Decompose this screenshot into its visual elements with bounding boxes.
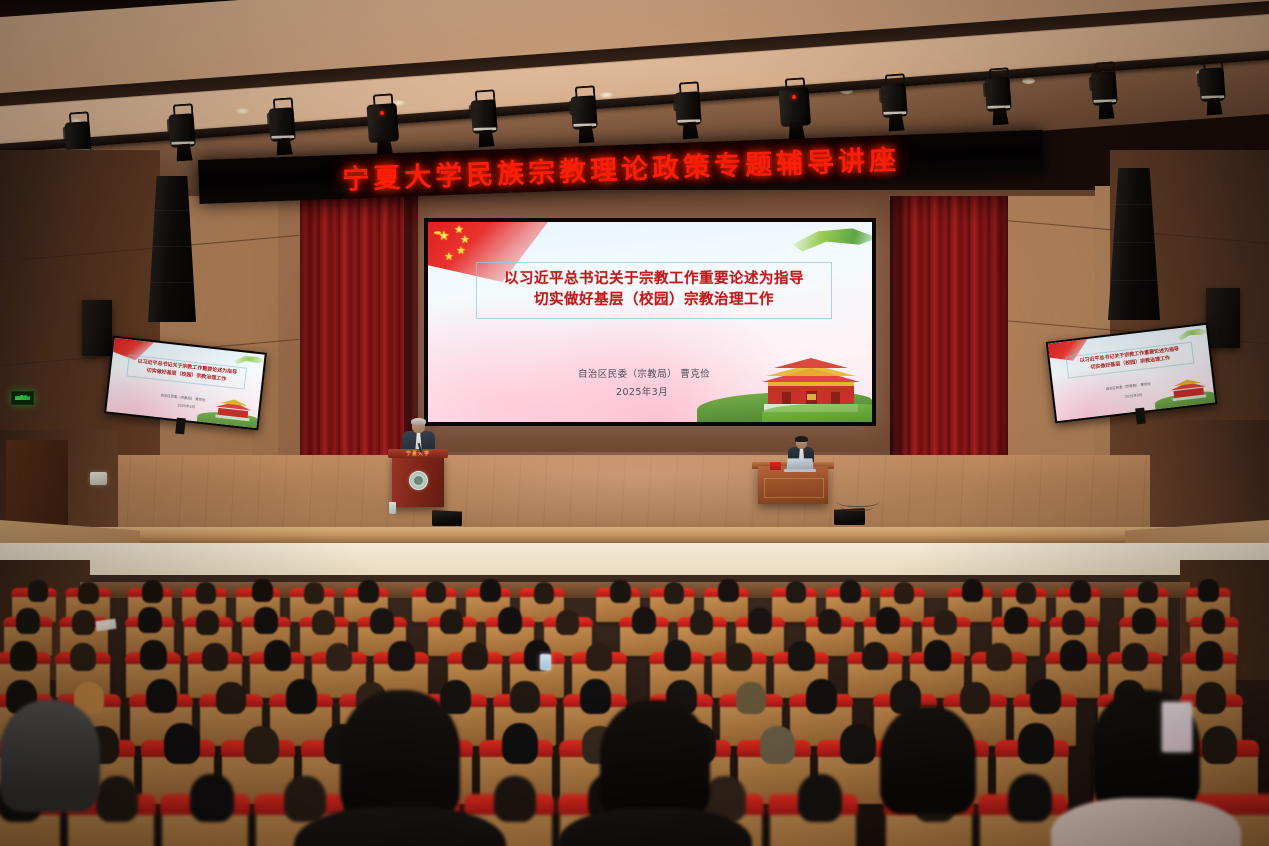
stage-spotlight-icon bbox=[876, 73, 915, 141]
attendee bbox=[786, 581, 806, 603]
attendee bbox=[1004, 607, 1028, 634]
attendee bbox=[164, 723, 200, 764]
main-projection-screen: ★ ★ ★ ★ ★ 以习近平总书记关于宗教工作重要论述为指导 切实做好基层（校园… bbox=[424, 218, 876, 426]
name-card bbox=[770, 462, 781, 470]
attendee bbox=[196, 610, 219, 635]
attendee bbox=[586, 643, 612, 671]
monitor-presenter: 自治区民委（宗教局） 曹克俭 bbox=[160, 393, 205, 403]
attendee bbox=[254, 607, 278, 634]
attendee bbox=[388, 641, 415, 671]
attendee bbox=[286, 679, 317, 714]
attendee bbox=[440, 609, 463, 634]
attendee bbox=[748, 608, 772, 634]
attendee bbox=[924, 640, 951, 671]
attendee bbox=[252, 579, 273, 602]
attendee bbox=[284, 776, 326, 822]
monitor-mount-right bbox=[1135, 408, 1146, 425]
attendee bbox=[1138, 581, 1158, 603]
attendee bbox=[1060, 640, 1087, 671]
grass-decoration-front bbox=[762, 404, 872, 422]
attendee bbox=[760, 726, 795, 764]
attendee bbox=[960, 682, 990, 714]
monitor-date: 2025年3月 bbox=[177, 403, 195, 410]
attendee bbox=[1202, 726, 1237, 764]
laptop-base bbox=[784, 469, 816, 472]
wall-speaker-left bbox=[82, 300, 112, 356]
smartphone[interactable] bbox=[540, 654, 551, 670]
ribbon-decoration-icon bbox=[792, 226, 872, 256]
stage-spotlight-icon bbox=[566, 85, 605, 153]
slide-title-box: 以习近平总书记关于宗教工作重要论述为指导 切实做好基层（校园）宗教治理工作 bbox=[476, 262, 832, 319]
water-bottle bbox=[389, 502, 396, 514]
attendee bbox=[1062, 610, 1085, 635]
university-emblem-icon bbox=[409, 471, 428, 490]
attendee bbox=[934, 610, 957, 635]
attendee bbox=[196, 582, 216, 604]
attendee bbox=[1016, 582, 1036, 604]
attendee bbox=[78, 582, 99, 604]
attendee bbox=[498, 607, 522, 634]
attendee bbox=[876, 607, 900, 634]
attendee bbox=[304, 582, 324, 604]
flag-star-icon: ★ bbox=[438, 229, 450, 242]
attendee bbox=[146, 679, 177, 713]
attendee bbox=[806, 679, 837, 714]
flag-star-icon: ★ bbox=[456, 246, 466, 257]
smartphone[interactable] bbox=[1162, 702, 1192, 752]
floor-monitor-left bbox=[432, 510, 462, 526]
attendee bbox=[494, 776, 536, 822]
attendee bbox=[1132, 608, 1156, 634]
attendee bbox=[632, 607, 656, 634]
attendee bbox=[326, 643, 352, 671]
stage-spotlight-icon bbox=[264, 97, 303, 165]
slide-title-line-1: 以习近平总书记关于宗教工作重要论述为指导 bbox=[481, 269, 827, 290]
attendee bbox=[1122, 643, 1148, 671]
stage-spotlight-icon bbox=[364, 93, 403, 161]
attendee bbox=[510, 681, 540, 713]
stage-spotlight-icon bbox=[1086, 61, 1125, 129]
lecture-hall-photo: ★ ★ ★ ★ ★ 以习近平总书记关于宗教工作重要论述为指导 切实做好基层（校园… bbox=[0, 0, 1269, 846]
attendee bbox=[726, 643, 752, 671]
attendee bbox=[0, 700, 100, 812]
monitor-date: 2025年3月 bbox=[1125, 393, 1143, 400]
table-panel-inlay bbox=[764, 478, 824, 498]
attendee bbox=[462, 642, 488, 670]
attendee bbox=[962, 579, 983, 602]
attendee bbox=[216, 682, 246, 714]
attendee bbox=[480, 579, 501, 602]
attendee bbox=[370, 608, 394, 634]
attendee bbox=[96, 776, 138, 822]
attendee bbox=[70, 643, 96, 671]
attendee bbox=[10, 641, 37, 671]
attendee bbox=[1018, 723, 1054, 764]
attendee bbox=[358, 580, 379, 603]
attendee bbox=[690, 610, 713, 635]
attendee bbox=[244, 726, 279, 764]
monitor-presenter: 自治区民委（宗教局） 曹克俭 bbox=[1105, 382, 1150, 393]
attendee bbox=[718, 579, 739, 602]
monitor-mount-left bbox=[175, 418, 186, 435]
flag-star-icon: ★ bbox=[444, 252, 454, 263]
downlight-icon bbox=[600, 92, 613, 98]
attendee bbox=[862, 642, 888, 670]
attendee bbox=[16, 608, 40, 634]
attendee bbox=[28, 580, 48, 602]
attendee bbox=[426, 581, 446, 603]
stage-spotlight-icon bbox=[776, 77, 815, 145]
attendee bbox=[880, 706, 976, 814]
attendee bbox=[142, 580, 163, 603]
exit-sign-icon bbox=[11, 391, 34, 405]
attendee bbox=[788, 641, 815, 671]
attendee bbox=[1008, 774, 1052, 822]
attendee bbox=[798, 774, 842, 822]
slide-title-line-2: 切实做好基层（校园）宗教治理工作 bbox=[481, 290, 827, 311]
attendee bbox=[340, 690, 460, 820]
attendee bbox=[190, 774, 234, 822]
attendee bbox=[534, 582, 554, 604]
attendee bbox=[312, 610, 335, 635]
stage-spotlight-icon bbox=[164, 103, 203, 171]
wall-light-switch[interactable] bbox=[90, 472, 107, 485]
attendee bbox=[1202, 609, 1225, 634]
stage-spotlight-icon bbox=[1194, 57, 1233, 125]
attendee bbox=[138, 607, 162, 633]
attendee bbox=[818, 609, 841, 634]
attendee bbox=[736, 682, 766, 714]
attendee bbox=[610, 580, 631, 603]
cable bbox=[840, 500, 874, 511]
attendee bbox=[600, 700, 710, 820]
attendee bbox=[664, 582, 684, 604]
attendee bbox=[1030, 679, 1061, 714]
stage-spotlight-icon bbox=[980, 67, 1019, 135]
wall-speaker-right bbox=[1206, 288, 1240, 348]
attendee bbox=[72, 610, 95, 635]
stage-spotlight-icon bbox=[670, 81, 709, 149]
attendee bbox=[1196, 682, 1226, 714]
attendee bbox=[1196, 641, 1223, 671]
downlight-icon bbox=[1022, 78, 1035, 84]
monitor-title-box: 以习近平总书记关于宗教工作重要论述为指导 切实做好基层（校园）宗教治理工作 bbox=[126, 355, 247, 390]
monitor-title-box: 以习近平总书记关于宗教工作重要论述为指导 切实做好基层（校园）宗教治理工作 bbox=[1066, 342, 1195, 379]
attendee bbox=[1070, 580, 1091, 603]
attendee bbox=[840, 724, 876, 764]
attendee bbox=[140, 640, 167, 670]
attendee bbox=[202, 643, 228, 671]
attendee bbox=[1198, 579, 1219, 602]
attendee bbox=[502, 723, 538, 764]
attendee bbox=[264, 640, 291, 671]
attendee bbox=[840, 580, 861, 603]
attendee bbox=[556, 610, 579, 635]
podium-label: 宁夏大学 bbox=[396, 450, 440, 457]
attendee bbox=[986, 643, 1012, 671]
downlight-icon bbox=[236, 108, 249, 114]
attendee bbox=[580, 679, 611, 714]
stage-spotlight-icon bbox=[466, 89, 505, 157]
attendee bbox=[894, 582, 914, 604]
attendee bbox=[664, 640, 691, 671]
ribbon-decoration-icon bbox=[1176, 327, 1209, 343]
